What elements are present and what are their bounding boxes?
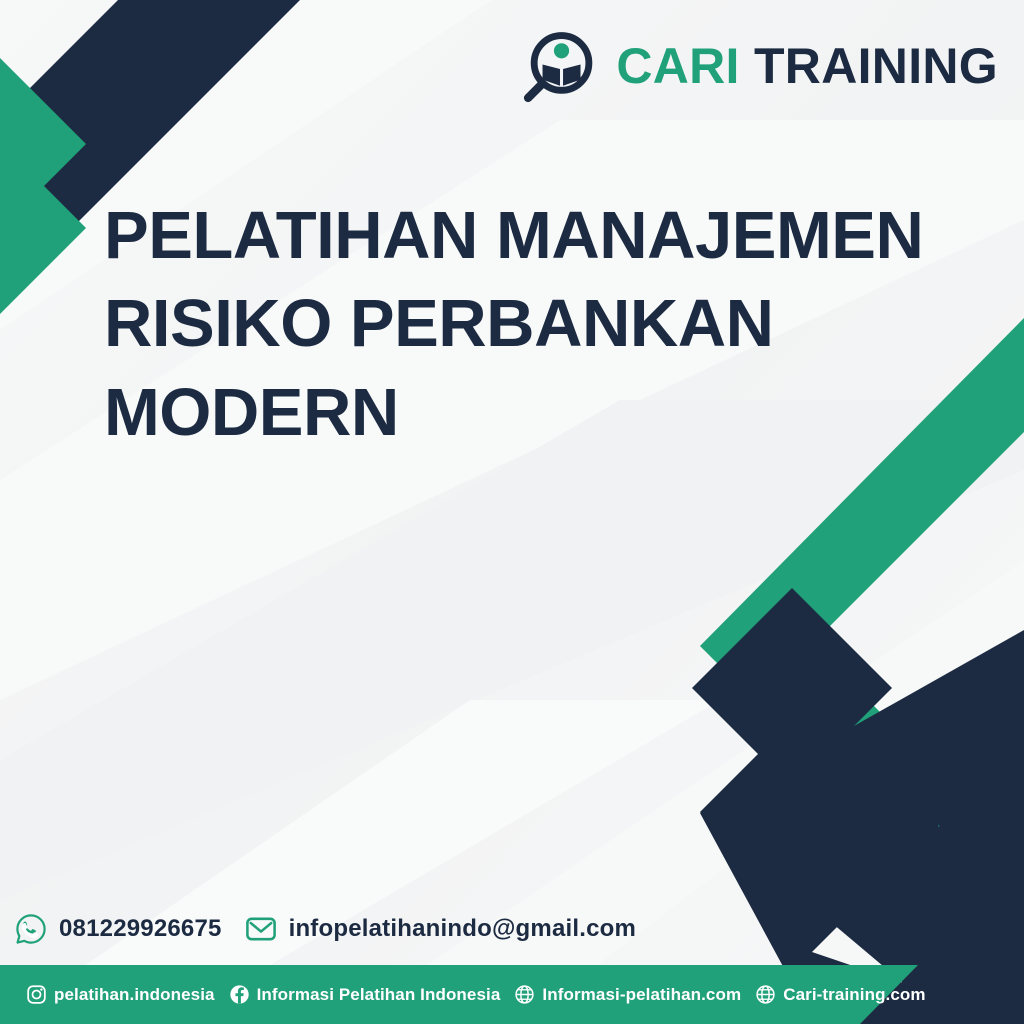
magnifier-book-icon — [522, 28, 598, 104]
footer-instagram[interactable]: pelatihan.indonesia — [26, 984, 215, 1005]
brand-name-space — [740, 38, 754, 94]
poster-canvas: CARI TRAINING PELATIHAN MANAJEMEN RISIKO… — [0, 0, 1024, 1024]
footer-website-2-label: Cari-training.com — [783, 985, 925, 1005]
background-decoration — [0, 0, 1024, 1024]
footer-website-1[interactable]: Informasi-pelatihan.com — [514, 984, 741, 1005]
contact-whatsapp[interactable]: 081229926675 — [14, 912, 222, 946]
footer-website-2[interactable]: Cari-training.com — [755, 984, 925, 1005]
contact-email[interactable]: infopelatihanindo@gmail.com — [244, 912, 636, 946]
footer-facebook-label: Informasi Pelatihan Indonesia — [257, 985, 501, 1005]
footer-facebook[interactable]: Informasi Pelatihan Indonesia — [229, 984, 501, 1005]
contact-whatsapp-label: 081229926675 — [59, 915, 222, 943]
background-base — [0, 0, 1024, 1024]
email-icon — [244, 912, 278, 946]
brand-logo[interactable]: CARI TRAINING — [522, 28, 998, 104]
brand-name-cari: CARI — [616, 38, 739, 94]
footer-links: pelatihan.indonesia Informasi Pelatihan … — [26, 965, 926, 1024]
footer-bar: pelatihan.indonesia Informasi Pelatihan … — [0, 965, 1024, 1024]
contact-email-label: infopelatihanindo@gmail.com — [289, 915, 636, 943]
green-wedge-top-left — [0, 142, 86, 314]
green-triangle-top-left — [0, 58, 86, 230]
brand-logo-text: CARI TRAINING — [616, 41, 998, 91]
globe-icon — [755, 984, 776, 1005]
instagram-icon — [26, 984, 47, 1005]
footer-website-1-label: Informasi-pelatihan.com — [542, 985, 741, 1005]
footer-instagram-label: pelatihan.indonesia — [54, 985, 215, 1005]
whatsapp-icon — [14, 912, 48, 946]
page-title: PELATIHAN MANAJEMEN RISIKO PERBANKAN MOD… — [104, 192, 934, 457]
contact-row: 081229926675 infopelatihanindo@gmail.com — [14, 912, 636, 946]
background-diagonal-bands — [0, 0, 1024, 1024]
globe-icon — [514, 984, 535, 1005]
brand-name-training: TRAINING — [754, 38, 998, 94]
facebook-icon — [229, 984, 250, 1005]
navy-diamond — [692, 588, 892, 788]
